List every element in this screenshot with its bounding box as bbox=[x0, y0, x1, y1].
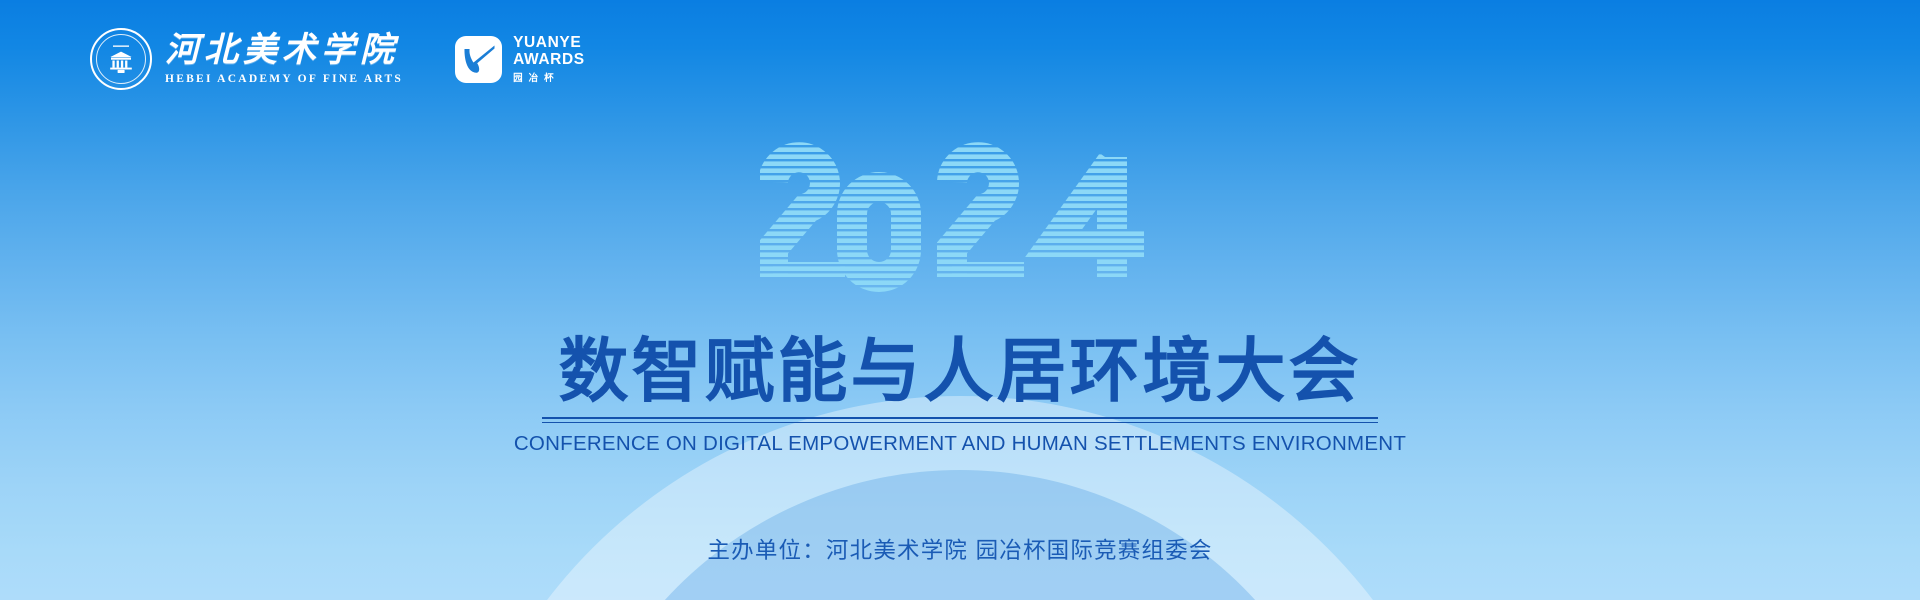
title-block: 数智赋能与人居环境大会 CONFERENCE ON DIGITAL EMPOWE… bbox=[0, 336, 1920, 456]
title-double-rule bbox=[542, 417, 1378, 423]
year-2024-artwork bbox=[760, 140, 1160, 292]
conference-banner: 河北美术学院 HEBEI ACADEMY OF FINE ARTS YUANYE… bbox=[0, 0, 1920, 600]
title-rule-top bbox=[542, 417, 1378, 419]
logo-hebei-academy-of-fine-arts[interactable]: 河北美术学院 HEBEI ACADEMY OF FINE ARTS bbox=[90, 28, 403, 90]
yuanye-line2: AWARDS bbox=[513, 51, 585, 68]
yuanye-name-cn: 园冶杯 bbox=[513, 70, 585, 84]
yuanye-line1: YUANYE bbox=[513, 34, 585, 51]
academy-gate-seal-icon bbox=[90, 28, 152, 90]
yuanye-swoosh-icon bbox=[455, 36, 502, 83]
logo-bar: 河北美术学院 HEBEI ACADEMY OF FINE ARTS YUANYE… bbox=[90, 28, 585, 90]
page-title-cn: 数智赋能与人居环境大会 bbox=[559, 336, 1362, 406]
logo-yuanye-awards[interactable]: YUANYE AWARDS 园冶杯 bbox=[455, 34, 585, 85]
academy-name-cn: 河北美术学院 bbox=[165, 33, 403, 68]
academy-name-block: 河北美术学院 HEBEI ACADEMY OF FINE ARTS bbox=[165, 33, 403, 84]
academy-name-en: HEBEI ACADEMY OF FINE ARTS bbox=[165, 73, 403, 85]
yuanye-name-block: YUANYE AWARDS 园冶杯 bbox=[513, 34, 585, 85]
organizer-line: 主办单位：河北美术学院 园冶杯国际竞赛组委会 bbox=[0, 533, 1920, 565]
title-rule-bottom bbox=[542, 422, 1378, 424]
page-title-en: CONFERENCE ON DIGITAL EMPOWERMENT AND HU… bbox=[0, 432, 1920, 456]
